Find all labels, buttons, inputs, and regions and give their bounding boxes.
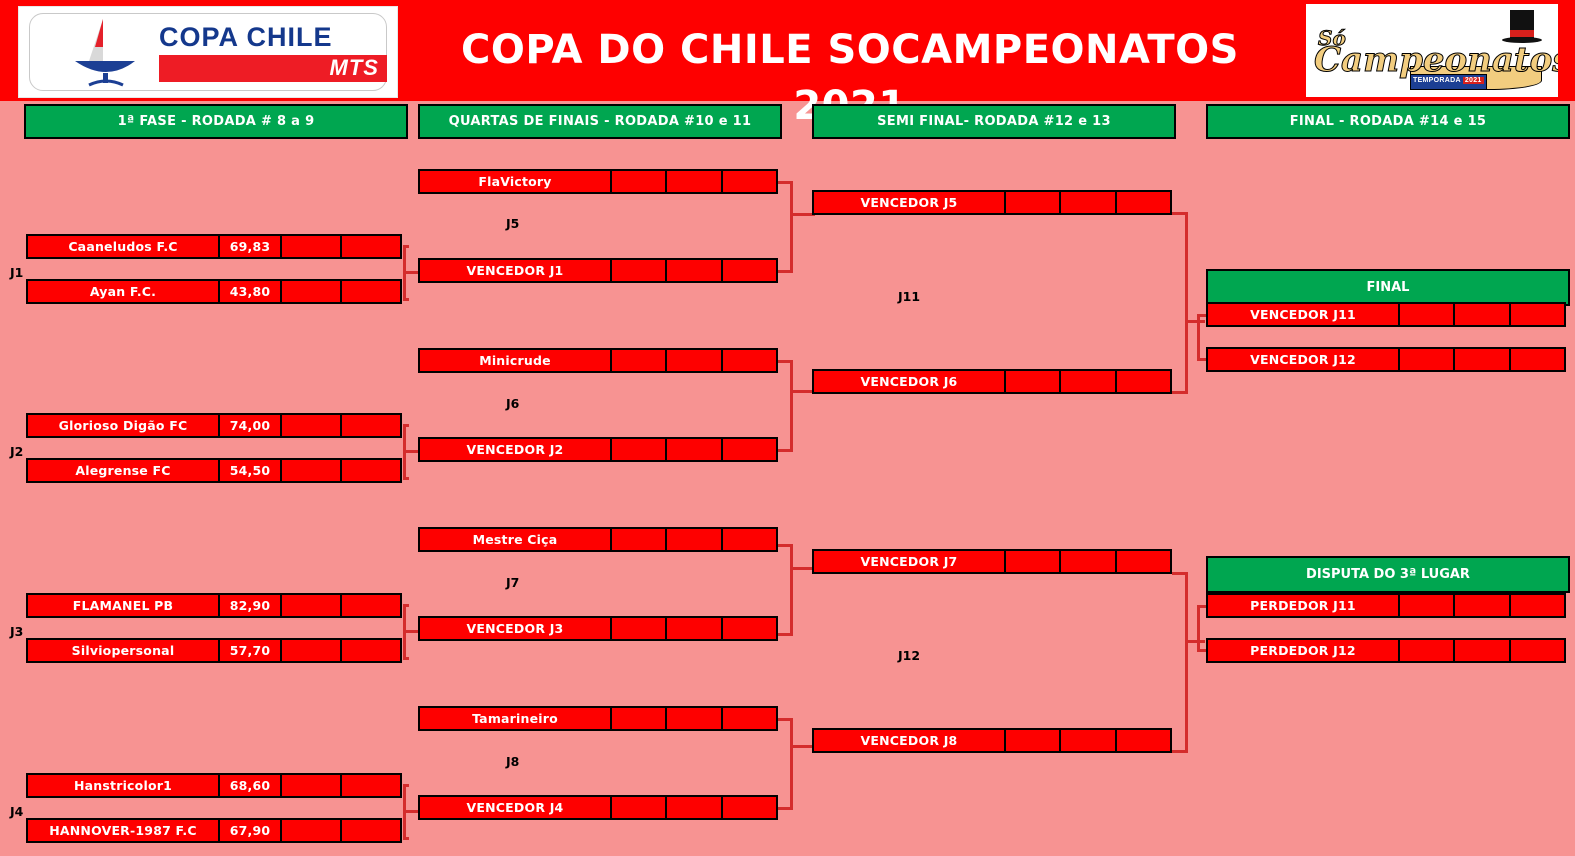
header-banner: COPA CHILE MTS COPA DO CHILE SOCAMPEONAT… <box>0 0 1575 101</box>
match-slot-j7-top[interactable]: Mestre Ciça <box>418 527 778 552</box>
round-header-quarter-finals: QUARTAS DE FINAIS - RODADA #10 e 11 <box>418 104 782 139</box>
connector-j7-bottom <box>778 633 793 636</box>
match-slot-j3-top[interactable]: FLAMANEL PB 82,90 <box>26 593 402 618</box>
match-slot-final-bottom[interactable]: VENCEDOR J12 <box>1206 347 1566 372</box>
team-name: VENCEDOR J5 <box>814 192 1006 213</box>
empty-cell <box>282 820 342 841</box>
match-slot-j12-top[interactable]: VENCEDOR J7 <box>812 549 1172 574</box>
empty-cell <box>342 595 400 616</box>
final-panel-title: FINAL <box>1206 269 1570 306</box>
empty-cell <box>667 171 722 192</box>
team-name: Hanstricolor1 <box>28 775 220 796</box>
team-name: Mestre Ciça <box>420 529 612 550</box>
season-label: TEMPORADA <box>1413 77 1461 84</box>
empty-cell <box>612 350 667 371</box>
match-slot-final-top[interactable]: VENCEDOR J11 <box>1206 302 1566 327</box>
match-slot-j5-bottom[interactable]: VENCEDOR J1 <box>418 258 778 283</box>
team-score: 43,80 <box>220 281 282 302</box>
connector-j11-spine <box>1185 212 1188 392</box>
match-code-j8: J8 <box>506 754 519 769</box>
empty-cell <box>1061 371 1116 392</box>
empty-cell <box>1400 349 1455 370</box>
empty-cell <box>1511 349 1564 370</box>
team-name: PERDEDOR J11 <box>1208 595 1400 616</box>
team-score: 54,50 <box>220 460 282 481</box>
connector-j5-top <box>778 181 793 184</box>
empty-cell <box>282 640 342 661</box>
empty-cell <box>1061 192 1116 213</box>
empty-cell <box>342 281 400 302</box>
team-name: FLAMANEL PB <box>28 595 220 616</box>
copa-chile-mts-logo: COPA CHILE MTS <box>18 6 398 98</box>
page-title: COPA DO CHILE SOCAMPEONATOS 2021 <box>400 22 1300 78</box>
connector-j12-spine <box>1185 572 1188 751</box>
team-name: PERDEDOR J12 <box>1208 640 1400 661</box>
empty-cell <box>723 260 776 281</box>
empty-cell <box>612 797 667 818</box>
connector-j4-top <box>403 784 409 787</box>
match-slot-j1-top[interactable]: Caaneludos F.C 69,83 <box>26 234 402 259</box>
team-name: VENCEDOR J11 <box>1208 304 1400 325</box>
match-code-j7: J7 <box>506 575 519 590</box>
match-slot-j4-top[interactable]: Hanstricolor1 68,60 <box>26 773 402 798</box>
connector-j12-out <box>1185 640 1205 643</box>
team-name: HANNOVER-1987 F.C <box>28 820 220 841</box>
match-slot-j7-bottom[interactable]: VENCEDOR J3 <box>418 616 778 641</box>
connector-j8 <box>790 718 793 810</box>
connector-j8-bottom <box>778 807 793 810</box>
match-slot-j2-bottom[interactable]: Alegrense FC 54,50 <box>26 458 402 483</box>
empty-cell <box>667 439 722 460</box>
team-name: Ayan F.C. <box>28 281 220 302</box>
sailboat-icon <box>59 17 155 89</box>
round-header-semi-finals: SEMI FINAL- RODADA #12 e 13 <box>812 104 1176 139</box>
match-code-j12: J12 <box>898 648 920 663</box>
empty-cell <box>723 797 776 818</box>
empty-cell <box>342 640 400 661</box>
match-slot-j2-top[interactable]: Glorioso Digão FC 74,00 <box>26 413 402 438</box>
match-code-j5: J5 <box>506 216 519 231</box>
copa-chile-wordmark: COPA CHILE <box>159 21 387 53</box>
connector-final-bracket <box>1197 314 1200 360</box>
team-name: VENCEDOR J12 <box>1208 349 1400 370</box>
empty-cell <box>723 350 776 371</box>
connector-j11-out <box>1185 320 1205 323</box>
connector-j8-top <box>778 718 793 721</box>
empty-cell <box>667 797 722 818</box>
empty-cell <box>1455 304 1510 325</box>
so-campeonatos-logo: Só Campeonatos TEMPORADA2021 <box>1306 4 1558 97</box>
round-header-final: FINAL - RODADA #14 e 15 <box>1206 104 1570 139</box>
connector-j6-bottom <box>778 449 793 452</box>
empty-cell <box>1117 730 1170 751</box>
mts-wordmark: MTS <box>330 55 379 82</box>
empty-cell <box>723 708 776 729</box>
empty-cell <box>612 171 667 192</box>
match-slot-j12-bottom[interactable]: VENCEDOR J8 <box>812 728 1172 753</box>
connector-j1-bottom <box>403 298 409 301</box>
connector-j1-top <box>403 245 409 248</box>
empty-cell <box>1061 551 1116 572</box>
match-code-j11: J11 <box>898 289 920 304</box>
empty-cell <box>342 775 400 796</box>
team-name: Caaneludos F.C <box>28 236 220 257</box>
round-header-first-phase: 1ª FASE - RODADA # 8 a 9 <box>24 104 408 139</box>
match-code-j1: J1 <box>10 265 23 280</box>
empty-cell <box>667 618 722 639</box>
connector-j6-top <box>778 360 793 363</box>
match-slot-j6-top[interactable]: Minicrude <box>418 348 778 373</box>
empty-cell <box>1117 551 1170 572</box>
empty-cell <box>282 595 342 616</box>
match-slot-j4-bottom[interactable]: HANNOVER-1987 F.C 67,90 <box>26 818 402 843</box>
empty-cell <box>612 708 667 729</box>
team-score: 57,70 <box>220 640 282 661</box>
team-name: Tamarineiro <box>420 708 612 729</box>
empty-cell <box>1117 371 1170 392</box>
team-name: VENCEDOR J7 <box>814 551 1006 572</box>
connector-j7-top <box>778 544 793 547</box>
empty-cell <box>1400 640 1455 661</box>
empty-cell <box>342 820 400 841</box>
match-slot-j11-top[interactable]: VENCEDOR J5 <box>812 190 1172 215</box>
empty-cell <box>723 171 776 192</box>
team-score: 69,83 <box>220 236 282 257</box>
empty-cell <box>667 529 722 550</box>
connector-j4-bottom <box>403 837 409 840</box>
top-hat-icon <box>1502 10 1542 48</box>
team-name: VENCEDOR J6 <box>814 371 1006 392</box>
connector-j2-bottom <box>403 477 409 480</box>
empty-cell <box>1511 304 1564 325</box>
team-name: VENCEDOR J3 <box>420 618 612 639</box>
empty-cell <box>1006 192 1061 213</box>
team-name: FlaVictory <box>420 171 612 192</box>
empty-cell <box>1400 304 1455 325</box>
match-code-j4: J4 <box>10 804 23 819</box>
match-slot-third-bottom[interactable]: PERDEDOR J12 <box>1206 638 1566 663</box>
empty-cell <box>282 460 342 481</box>
empty-cell <box>723 618 776 639</box>
empty-cell <box>342 460 400 481</box>
team-score: 68,60 <box>220 775 282 796</box>
team-score: 74,00 <box>220 415 282 436</box>
connector-j6 <box>790 360 793 452</box>
match-code-j3: J3 <box>10 624 23 639</box>
connector-j5 <box>790 181 793 273</box>
team-name: Alegrense FC <box>28 460 220 481</box>
empty-cell <box>1511 640 1564 661</box>
empty-cell <box>342 415 400 436</box>
match-slot-third-top[interactable]: PERDEDOR J11 <box>1206 593 1566 618</box>
team-name: Minicrude <box>420 350 612 371</box>
match-slot-j5-top[interactable]: FlaVictory <box>418 169 778 194</box>
empty-cell <box>1006 730 1061 751</box>
third-place-panel-title: DISPUTA DO 3ª LUGAR <box>1206 556 1570 593</box>
team-score: 67,90 <box>220 820 282 841</box>
empty-cell <box>1455 595 1510 616</box>
team-name: Glorioso Digão FC <box>28 415 220 436</box>
team-name: Silviopersonal <box>28 640 220 661</box>
empty-cell <box>667 708 722 729</box>
empty-cell <box>282 775 342 796</box>
empty-cell <box>1400 595 1455 616</box>
connector-third-bracket <box>1197 605 1200 651</box>
empty-cell <box>282 236 342 257</box>
team-name: VENCEDOR J8 <box>814 730 1006 751</box>
team-name: VENCEDOR J2 <box>420 439 612 460</box>
empty-cell <box>612 618 667 639</box>
empty-cell <box>1061 730 1116 751</box>
match-code-j2: J2 <box>10 444 23 459</box>
empty-cell <box>612 439 667 460</box>
empty-cell <box>612 529 667 550</box>
empty-cell <box>723 439 776 460</box>
empty-cell <box>612 260 667 281</box>
empty-cell <box>282 415 342 436</box>
season-badge: TEMPORADA2021 <box>1410 74 1487 90</box>
empty-cell <box>1511 595 1564 616</box>
empty-cell <box>1006 371 1061 392</box>
match-slot-j1-bottom[interactable]: Ayan F.C. 43,80 <box>26 279 402 304</box>
connector-j3-top <box>403 604 409 607</box>
connector-j7 <box>790 544 793 636</box>
season-year: 2021 <box>1463 77 1484 84</box>
connector-j3-bottom <box>403 657 409 660</box>
empty-cell <box>667 350 722 371</box>
mts-bar: MTS <box>159 55 387 82</box>
team-name: VENCEDOR J1 <box>420 260 612 281</box>
empty-cell <box>667 260 722 281</box>
empty-cell <box>1117 192 1170 213</box>
match-slot-j11-bottom[interactable]: VENCEDOR J6 <box>812 369 1172 394</box>
empty-cell <box>1006 551 1061 572</box>
empty-cell <box>282 281 342 302</box>
match-slot-j3-bottom[interactable]: Silviopersonal 57,70 <box>26 638 402 663</box>
empty-cell <box>723 529 776 550</box>
connector-j2-top <box>403 424 409 427</box>
empty-cell <box>1455 349 1510 370</box>
empty-cell <box>1455 640 1510 661</box>
empty-cell <box>342 236 400 257</box>
connector-j5-bottom <box>778 270 793 273</box>
team-name: VENCEDOR J4 <box>420 797 612 818</box>
match-slot-j6-bottom[interactable]: VENCEDOR J2 <box>418 437 778 462</box>
match-slot-j8-top[interactable]: Tamarineiro <box>418 706 778 731</box>
team-score: 82,90 <box>220 595 282 616</box>
match-code-j6: J6 <box>506 396 519 411</box>
match-slot-j8-bottom[interactable]: VENCEDOR J4 <box>418 795 778 820</box>
